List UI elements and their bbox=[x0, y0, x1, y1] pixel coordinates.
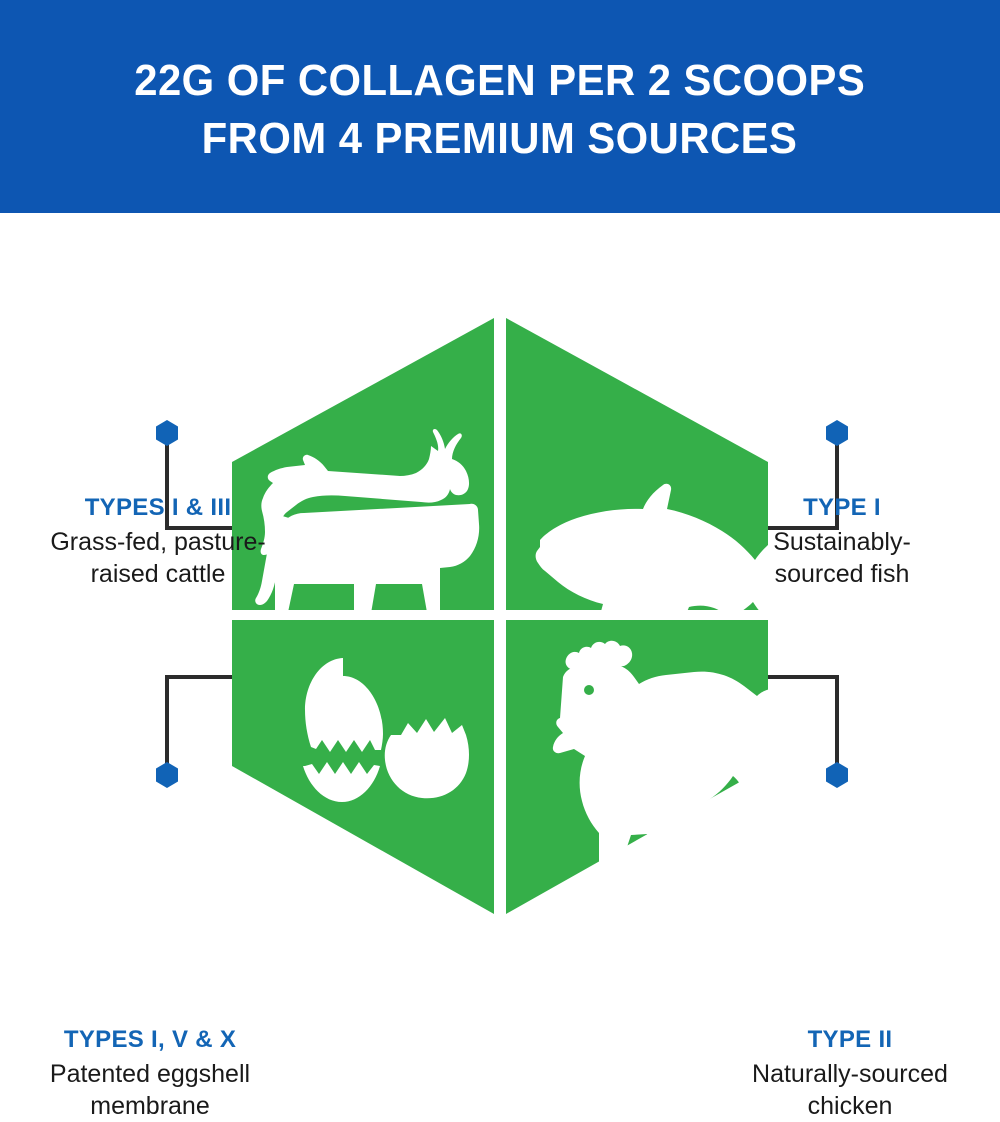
hexagon-diagram-svg bbox=[0, 213, 1000, 1000]
callout-cattle-desc-line-1: Grass-fed, pasture- bbox=[8, 526, 308, 558]
callout-eggshell-type: TYPES I, V & X bbox=[0, 1025, 300, 1055]
hexagon-marker-chicken[interactable] bbox=[826, 762, 848, 788]
callout-chicken: TYPE II Naturally-sourced chicken bbox=[700, 1025, 1000, 1122]
callout-eggshell: TYPES I, V & X Patented eggshell membran… bbox=[0, 1025, 300, 1122]
callout-eggshell-desc-line-1: Patented eggshell bbox=[0, 1058, 300, 1090]
chicken-eye bbox=[584, 685, 594, 695]
hexagon-marker-cattle[interactable] bbox=[156, 420, 178, 446]
header-title-line-1: 22G OF COLLAGEN PER 2 SCOOPS bbox=[134, 52, 865, 110]
callout-cattle: TYPES I & III Grass-fed, pasture- raised… bbox=[8, 493, 308, 590]
header-banner: 22G OF COLLAGEN PER 2 SCOOPS FROM 4 PREM… bbox=[0, 0, 1000, 213]
hexagon-marker-egg[interactable] bbox=[156, 762, 178, 788]
callout-fish-type: TYPE I bbox=[692, 493, 992, 523]
callout-chicken-desc-line-2: chicken bbox=[700, 1090, 1000, 1122]
callout-fish: TYPE I Sustainably- sourced fish bbox=[692, 493, 992, 590]
header-title-line-2: FROM 4 PREMIUM SOURCES bbox=[202, 110, 798, 168]
quadrant-eggshell[interactable] bbox=[232, 620, 494, 914]
callout-fish-desc-line-2: sourced fish bbox=[692, 558, 992, 590]
collagen-sources-diagram: TYPES I & III Grass-fed, pasture- raised… bbox=[0, 213, 1000, 1000]
callout-chicken-desc-line-1: Naturally-sourced bbox=[700, 1058, 1000, 1090]
callout-cattle-type: TYPES I & III bbox=[8, 493, 308, 523]
quadrant-chicken[interactable] bbox=[506, 620, 801, 914]
callout-fish-desc-line-1: Sustainably- bbox=[692, 526, 992, 558]
callout-cattle-desc-line-2: raised cattle bbox=[8, 558, 308, 590]
hexagon-marker-fish[interactable] bbox=[826, 420, 848, 446]
callout-eggshell-desc-line-2: membrane bbox=[0, 1090, 300, 1122]
callout-chicken-type: TYPE II bbox=[700, 1025, 1000, 1055]
connector-line-egg bbox=[167, 677, 233, 773]
